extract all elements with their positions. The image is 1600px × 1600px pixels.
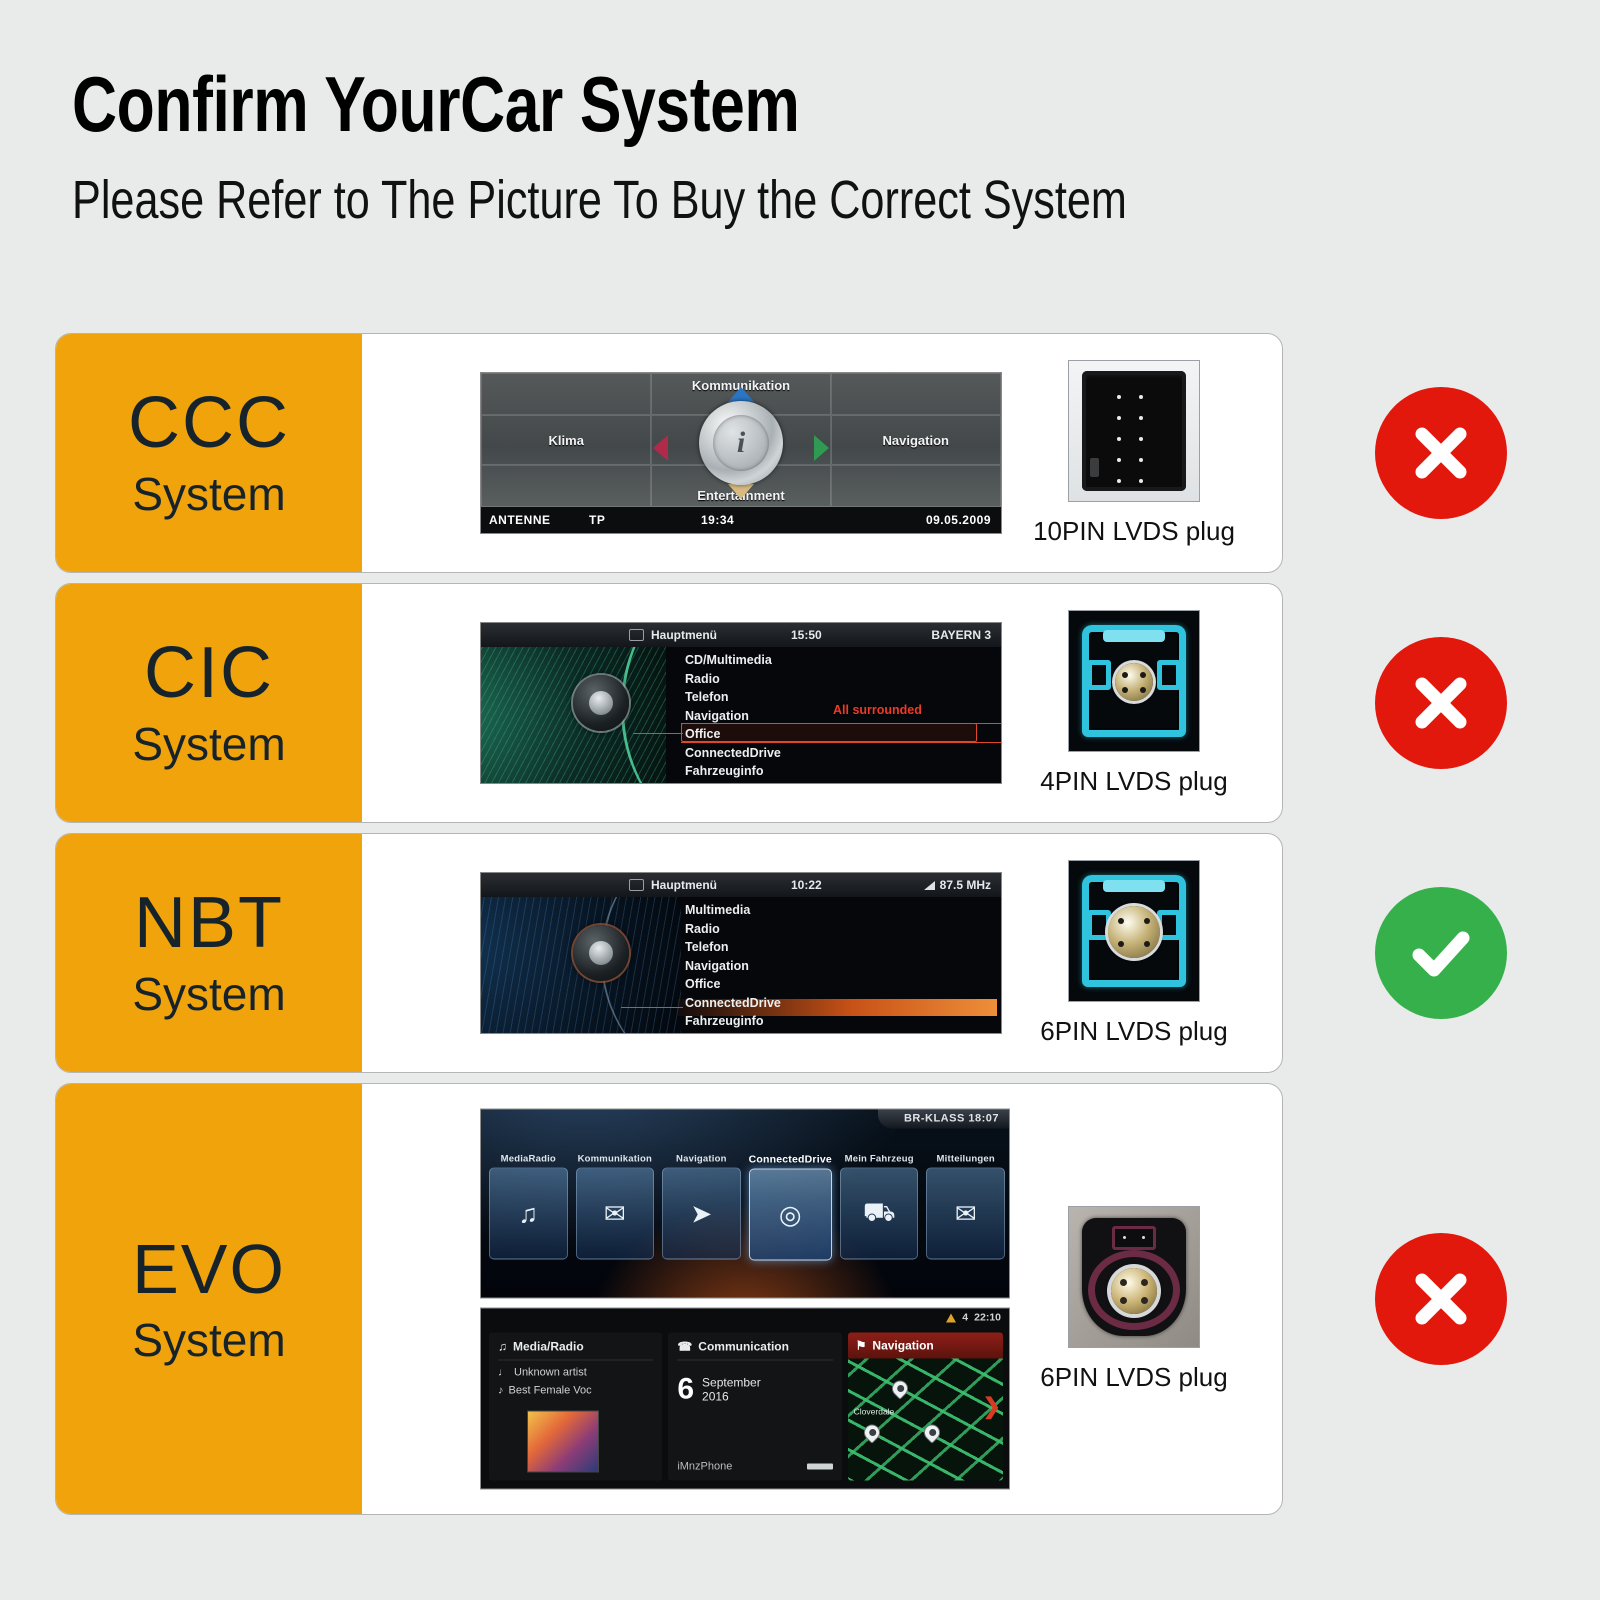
artist-icon: ♩ xyxy=(498,1367,509,1379)
label-pane-cic: CIC System xyxy=(56,584,362,822)
evo-comm-day: 6 xyxy=(677,1375,694,1405)
page-title: Confirm YourCar System xyxy=(72,62,1240,146)
nbt-menu-item-7: Einstellungen xyxy=(685,1031,781,1035)
flag-icon: ⚑ xyxy=(856,1339,867,1353)
evo-map-place-label: Cloverdale xyxy=(854,1407,895,1417)
evo-tile-mein-fahrzeug: Mein Fahrzeug ⛟ xyxy=(840,1154,919,1261)
evo-media-track: Best Female Voc xyxy=(509,1385,592,1397)
evo-media-artist: Unknown artist xyxy=(514,1367,587,1379)
screenshot-evo: BR-KLASS 18:07 MediaRadio ♫ Kommunikatio… xyxy=(480,1109,1010,1490)
card-cic: CIC System Hauptmenü 15:50 BAYERN 3 xyxy=(55,583,1283,823)
evo-comm-month: September xyxy=(702,1376,761,1390)
ccc-cell-navigation: Navigation xyxy=(831,415,1002,465)
nbt-menu-item-6: Fahrzeuginfo xyxy=(685,1012,781,1031)
infographic-page: Confirm YourCar System Please Refer to T… xyxy=(0,0,1600,1600)
evo-media-header: ♫ Media/Radio xyxy=(498,1340,653,1361)
signal-icon xyxy=(924,881,935,890)
cic-menu-item-6: Fahrzeuginfo xyxy=(685,762,781,781)
system-word-evo: System xyxy=(132,1312,285,1368)
evo-tile-label: Navigation xyxy=(662,1154,741,1165)
evo-comm-phone: iMnzPhone xyxy=(677,1461,732,1473)
cic-menu-item-4: Office xyxy=(685,725,781,744)
4pin-cyan-connector-icon xyxy=(1068,610,1200,752)
plug-label-ccc: 10PIN LVDS plug xyxy=(1033,516,1235,547)
evo-panel-media: ♫ Media/Radio ♩ Unknown artist ♪ xyxy=(489,1333,662,1481)
ccc-status-traffic: TP xyxy=(589,513,605,527)
content-pane-cic: Hauptmenü 15:50 BAYERN 3 CD/Multimedia xyxy=(362,584,1282,822)
evo-media-title: Media/Radio xyxy=(513,1340,584,1354)
nbt-head-unit-screen: Hauptmenü 10:22 87.5 MHz Multimedia Radi… xyxy=(480,872,1002,1034)
red-cross-icon xyxy=(1406,1264,1476,1334)
system-row-nbt: NBT System Hauptmenü 10:22 87.5 MHz xyxy=(55,833,1545,1073)
ccc-status-time: 19:34 xyxy=(701,513,734,527)
evo-comm-year: 2016 xyxy=(702,1390,761,1404)
6pin-purple-connector-icon xyxy=(1068,1206,1200,1348)
evo-panel-navigation: ⚑ Navigation Cloverdale xyxy=(848,1333,1003,1481)
evo-tile-row: MediaRadio ♫ Kommunikation ✉ Navigation … xyxy=(489,1154,1005,1261)
ccc-cell-blank-bl xyxy=(481,465,651,507)
ccc-cell-blank-br xyxy=(831,465,1002,507)
warning-icon xyxy=(946,1313,956,1322)
map-pin-icon xyxy=(860,1421,883,1444)
nbt-header-title: Hauptmenü xyxy=(651,878,717,892)
label-pane-ccc: CCC System xyxy=(56,334,362,572)
status-badge-nbt xyxy=(1375,887,1507,1019)
plug-column-cic: 4PIN LVDS plug xyxy=(986,584,1282,822)
evo-comm-date: 6 September 2016 xyxy=(677,1375,832,1405)
nbt-menu-item-0: Multimedia xyxy=(685,901,781,920)
plug-label-evo: 6PIN LVDS plug xyxy=(1040,1362,1227,1393)
chat-icon: ✉ xyxy=(576,1168,655,1260)
system-word-cic: System xyxy=(132,716,285,772)
cic-header-bar: Hauptmenü 15:50 BAYERN 3 xyxy=(481,623,1001,647)
content-pane-ccc: Kommunikation Klima Navigation Entertain… xyxy=(362,334,1282,572)
status-badge-ccc xyxy=(1375,387,1507,519)
page-subtitle: Please Refer to The Picture To Buy the C… xyxy=(72,170,1240,230)
cic-header-station: BAYERN 3 xyxy=(931,628,991,642)
car-icon: ⛟ xyxy=(840,1168,919,1260)
evo-tile-navigation: Navigation ➤ xyxy=(662,1154,741,1261)
nbt-header-time: 10:22 xyxy=(791,878,822,892)
evo-comm-monthyear: September 2016 xyxy=(702,1376,761,1404)
evo-tile-label: Kommunikation xyxy=(576,1154,655,1165)
arrow-left-icon xyxy=(653,435,668,461)
system-row-cic: CIC System Hauptmenü 15:50 BAYERN 3 xyxy=(55,583,1545,823)
header: Confirm YourCar System Please Refer to T… xyxy=(72,62,1532,230)
card-ccc: CCC System Kommunikation Klima Na xyxy=(55,333,1283,573)
evo-panel-communication: ☎ Communication 6 September 2016 xyxy=(668,1333,841,1481)
system-rows: CCC System Kommunikation Klima Na xyxy=(55,333,1545,1525)
cic-highlight-leader-left xyxy=(633,733,683,734)
nbt-menu-item-3: Navigation xyxy=(685,957,781,976)
plug-label-cic: 4PIN LVDS plug xyxy=(1040,766,1227,797)
evo-main-menu-screen: BR-KLASS 18:07 MediaRadio ♫ Kommunikatio… xyxy=(480,1109,1010,1299)
status-badge-cic xyxy=(1375,637,1507,769)
evo-map: Cloverdale xyxy=(848,1359,1003,1481)
cic-header-title: Hauptmenü xyxy=(651,628,717,642)
media-icon: ♫ xyxy=(489,1168,568,1260)
card-evo: EVO System BR-KLASS 18:07 MediaRadio ♫ xyxy=(55,1083,1283,1515)
ccc-status-date: 09.05.2009 xyxy=(926,513,991,527)
status-badge-evo xyxy=(1375,1233,1507,1365)
system-word-ccc: System xyxy=(132,466,285,522)
phone-icon: ☎ xyxy=(677,1340,692,1354)
cic-menu-item-0: CD/Multimedia xyxy=(685,651,781,670)
display-icon xyxy=(629,879,644,891)
plug-column-evo: 6PIN LVDS plug xyxy=(986,1084,1282,1514)
evo-nav-header: ⚑ Navigation xyxy=(848,1333,1003,1359)
content-pane-evo: BR-KLASS 18:07 MediaRadio ♫ Kommunikatio… xyxy=(362,1084,1282,1514)
evo-tile-label: MediaRadio xyxy=(489,1154,568,1165)
nbt-menu-list: Multimedia Radio Telefon Navigation Offi… xyxy=(685,901,781,1034)
nbt-menu-item-2: Telefon xyxy=(685,938,781,957)
evo-tile-mediaradio: MediaRadio ♫ xyxy=(489,1154,568,1261)
evo-tile-label: Mein Fahrzeug xyxy=(840,1154,919,1165)
map-pin-icon xyxy=(920,1421,943,1444)
red-cross-icon xyxy=(1406,418,1476,488)
nbt-controller-icon xyxy=(573,925,629,981)
content-pane-nbt: Hauptmenü 10:22 87.5 MHz Multimedia Radi… xyxy=(362,834,1282,1072)
system-abbr-ccc: CCC xyxy=(128,384,290,462)
system-row-ccc: CCC System Kommunikation Klima Na xyxy=(55,333,1545,573)
system-word-nbt: System xyxy=(132,966,285,1022)
evo-status-count: 4 xyxy=(962,1312,968,1324)
system-row-evo: EVO System BR-KLASS 18:07 MediaRadio ♫ xyxy=(55,1083,1545,1515)
label-pane-nbt: NBT System xyxy=(56,834,362,1072)
compass-icon: ➤ xyxy=(662,1168,741,1260)
cic-controller-icon xyxy=(573,675,629,731)
cic-annotation: All surrounded xyxy=(833,703,922,717)
label-pane-evo: EVO System xyxy=(56,1084,362,1514)
ccc-status-bar: ANTENNE TP 19:34 09.05.2009 xyxy=(481,507,1001,533)
ccc-cell-blank-tr xyxy=(831,373,1002,415)
arrow-right-icon xyxy=(814,435,829,461)
system-abbr-nbt: NBT xyxy=(134,884,284,962)
display-icon xyxy=(629,629,644,641)
ccc-head-unit-screen: Kommunikation Klima Navigation Entertain… xyxy=(480,372,1002,534)
plug-column-ccc: 10PIN LVDS plug xyxy=(986,334,1282,572)
screenshot-nbt: Hauptmenü 10:22 87.5 MHz Multimedia Radi… xyxy=(480,872,1002,1034)
cic-menu-item-5: ConnectedDrive xyxy=(685,744,781,763)
red-cross-icon xyxy=(1406,668,1476,738)
signal-bar-icon xyxy=(807,1464,833,1470)
nbt-menu-item-5: ConnectedDrive xyxy=(685,994,781,1013)
info-dial-icon: i xyxy=(699,401,783,485)
cic-menu-item-2: Telefon xyxy=(685,688,781,707)
evo-media-track-row: ♪ Best Female Voc xyxy=(498,1385,653,1397)
evo-comm-title: Communication xyxy=(698,1340,789,1354)
ccc-status-source: ANTENNE xyxy=(489,513,551,527)
nbt-menu-item-4: Office xyxy=(685,975,781,994)
nbt-header-bar: Hauptmenü 10:22 87.5 MHz xyxy=(481,873,1001,897)
evo-tile-kommunikation: Kommunikation ✉ xyxy=(576,1154,655,1261)
evo-split-screen: 4 22:10 ♫ Media/Radio xyxy=(480,1308,1010,1490)
arrow-down-icon xyxy=(728,484,754,499)
connecteddrive-icon: ◎ xyxy=(749,1169,832,1261)
arrow-up-icon xyxy=(728,387,754,402)
evo-nav-title: Navigation xyxy=(872,1339,933,1353)
system-abbr-evo: EVO xyxy=(132,1230,286,1308)
nbt-highlight-leader xyxy=(621,1007,683,1008)
green-check-icon xyxy=(1403,915,1479,991)
plug-column-nbt: 6PIN LVDS plug xyxy=(986,834,1282,1072)
card-nbt: NBT System Hauptmenü 10:22 87.5 MHz xyxy=(55,833,1283,1073)
album-art xyxy=(527,1411,599,1473)
cic-menu-item-1: Radio xyxy=(685,670,781,689)
cic-menu-item-3: Navigation xyxy=(685,707,781,726)
music-note-icon: ♫ xyxy=(498,1340,507,1354)
system-abbr-cic: CIC xyxy=(144,634,274,712)
cic-menu-list: CD/Multimedia Radio Telefon Navigation O… xyxy=(685,651,781,781)
ccc-cell-klima: Klima xyxy=(481,415,651,465)
evo-comm-phone-row: iMnzPhone xyxy=(677,1461,832,1473)
cic-header-time: 15:50 xyxy=(791,628,822,642)
evo-comm-header: ☎ Communication xyxy=(677,1340,832,1361)
map-pin-icon xyxy=(888,1377,911,1400)
screenshot-ccc: Kommunikation Klima Navigation Entertain… xyxy=(480,372,1002,534)
plug-label-nbt: 6PIN LVDS plug xyxy=(1040,1016,1227,1047)
nbt-menu-item-1: Radio xyxy=(685,920,781,939)
evo-media-artist-row: ♩ Unknown artist xyxy=(498,1367,653,1379)
cic-head-unit-screen: Hauptmenü 15:50 BAYERN 3 CD/Multimedia xyxy=(480,622,1002,784)
info-letter: i xyxy=(737,426,745,460)
evo-tile-label: ConnectedDrive xyxy=(749,1154,832,1166)
ccc-cell-blank-tl xyxy=(481,373,651,415)
nbt-header-frequency: 87.5 MHz xyxy=(924,878,991,892)
6pin-cyan-connector-icon xyxy=(1068,860,1200,1002)
evo-columns: ♫ Media/Radio ♩ Unknown artist ♪ xyxy=(489,1333,1003,1481)
evo-tile-connecteddrive: ConnectedDrive ◎ xyxy=(749,1154,832,1261)
10pin-black-connector-icon xyxy=(1068,360,1200,502)
music-note-icon: ♪ xyxy=(498,1385,504,1397)
screenshot-cic: Hauptmenü 15:50 BAYERN 3 CD/Multimedia xyxy=(480,622,1002,784)
